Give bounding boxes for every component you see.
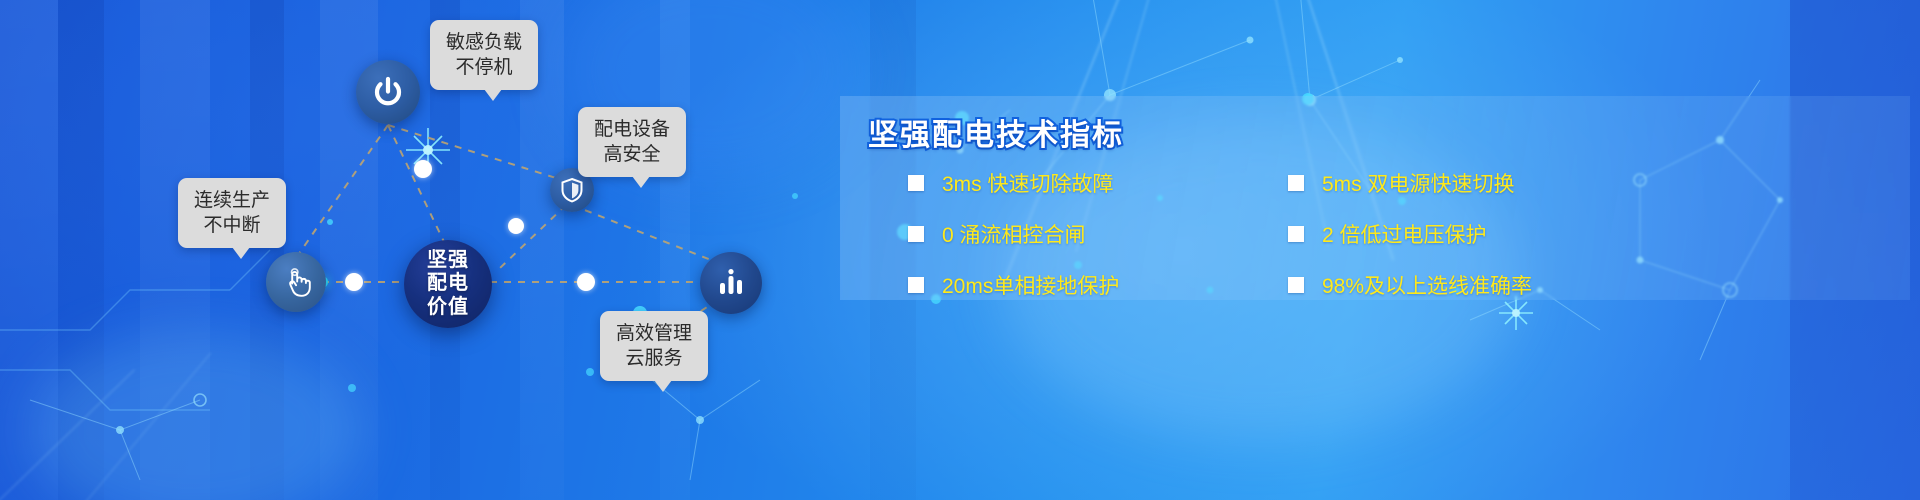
panel-title: 坚强配电技术指标 [868,110,1124,154]
spec-item: 0 涌流相控合闸 [908,219,1288,249]
hand-touch-icon [280,266,312,298]
spec-text: 98%及以上选线准确率 [1322,270,1532,300]
spec-text: 0 涌流相控合闸 [942,219,1086,249]
shield-icon [560,177,584,203]
bubble-power[interactable]: 敏感负载 不停机 [430,20,538,90]
bullet-square-icon [908,277,924,293]
connector-dot [345,273,363,291]
bubble-line-2: 不停机 [446,55,522,80]
bubble-line-2: 不中断 [194,213,270,238]
connector-dot [414,160,432,178]
bubble-shield[interactable]: 配电设备 高安全 [578,107,686,177]
bubble-line-2: 云服务 [616,346,692,371]
bullet-square-icon [908,226,924,242]
hub-label: 坚强 配电 价值 [427,249,469,320]
spec-item: 20ms单相接地保护 [908,270,1288,300]
spec-list: 3ms 快速切除故障 5ms 双电源快速切换 0 涌流相控合闸 2 倍低过电压保… [908,168,1908,300]
bubble-chart[interactable]: 高效管理 云服务 [600,311,708,381]
bullet-square-icon [1288,277,1304,293]
bullet-square-icon [1288,226,1304,242]
banner-stage: 坚强 配电 价值 [0,0,1920,500]
node-power[interactable] [356,60,420,124]
bubble-line-1: 连续生产 [194,188,270,213]
bullet-square-icon [908,175,924,191]
spec-text: 2 倍低过电压保护 [1322,219,1487,249]
hub-node[interactable]: 坚强 配电 价值 [404,240,492,328]
bubble-line-1: 敏感负载 [446,30,522,55]
node-chart[interactable] [700,252,762,314]
bubble-line-2: 高安全 [594,142,670,167]
connector-dot [577,273,595,291]
spec-text: 3ms 快速切除故障 [942,168,1114,198]
spec-panel: 坚强配电技术指标 3ms 快速切除故障 5ms 双电源快速切换 0 涌流相控合闸… [840,96,1910,300]
spec-item: 98%及以上选线准确率 [1288,270,1908,300]
spec-text: 20ms单相接地保护 [942,270,1119,300]
connector-dot [508,218,524,234]
node-touch[interactable] [266,252,326,312]
power-button-icon [371,75,405,109]
bullet-square-icon [1288,175,1304,191]
bubble-line-1: 配电设备 [594,117,670,142]
bubble-line-1: 高效管理 [616,321,692,346]
infographic: 坚强 配电 价值 [0,0,830,500]
bar-chart-icon [715,267,747,299]
bubble-touch[interactable]: 连续生产 不中断 [178,178,286,248]
spec-item: 3ms 快速切除故障 [908,168,1288,198]
spec-text: 5ms 双电源快速切换 [1322,168,1515,198]
spec-item: 2 倍低过电压保护 [1288,219,1908,249]
spec-item: 5ms 双电源快速切换 [1288,168,1908,198]
